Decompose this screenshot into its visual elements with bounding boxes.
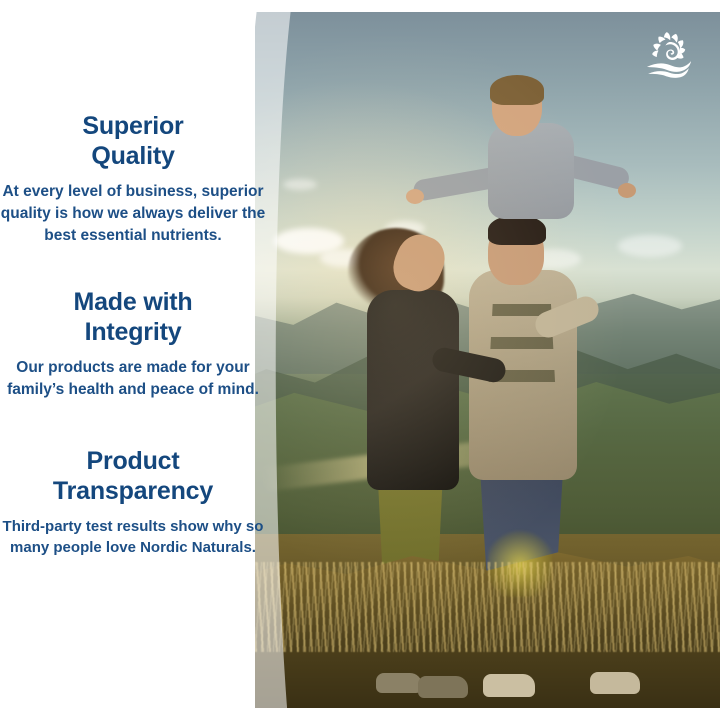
benefits-copy: Superior Quality At every level of busin… [0,0,266,720]
benefit-heading: Superior Quality [0,112,266,171]
benefit-body: At every level of business, superior qua… [0,181,266,247]
benefit-heading: Made with Integrity [0,288,266,347]
benefit-heading-line-1: Made with [73,288,192,316]
shoe [418,676,468,698]
mother-jacket [367,290,459,490]
benefit-heading-line-1: Superior [82,112,183,140]
benefit-heading: Product Transparency [0,447,266,506]
family-on-mountain-photo [255,12,720,708]
sun-wave-logo-icon [640,24,698,82]
child-left-hand [406,189,424,204]
benefit-body: Our products are made for your family’s … [0,357,266,401]
shoe [483,674,535,697]
child-hair [490,75,544,105]
shoe [376,673,422,693]
benefit-block-product-transparency: Product Transparency Third-party test re… [0,447,266,559]
shoe [590,672,640,694]
grass-tufts [255,562,720,652]
child-torso [488,123,574,219]
benefit-block-superior-quality: Superior Quality At every level of busin… [0,112,266,247]
benefit-heading-line-2: Quality [91,142,174,170]
father-hair [488,215,546,245]
benefit-heading-line-1: Product [86,447,179,475]
child-right-hand [618,183,636,198]
benefit-heading-line-2: Transparency [53,477,213,505]
benefit-body: Third-party test results show why so man… [0,516,266,559]
marketing-banner: Superior Quality At every level of busin… [0,0,720,720]
benefit-heading-line-2: Integrity [85,318,182,346]
benefit-block-made-with-integrity: Made with Integrity Our products are mad… [0,288,266,401]
